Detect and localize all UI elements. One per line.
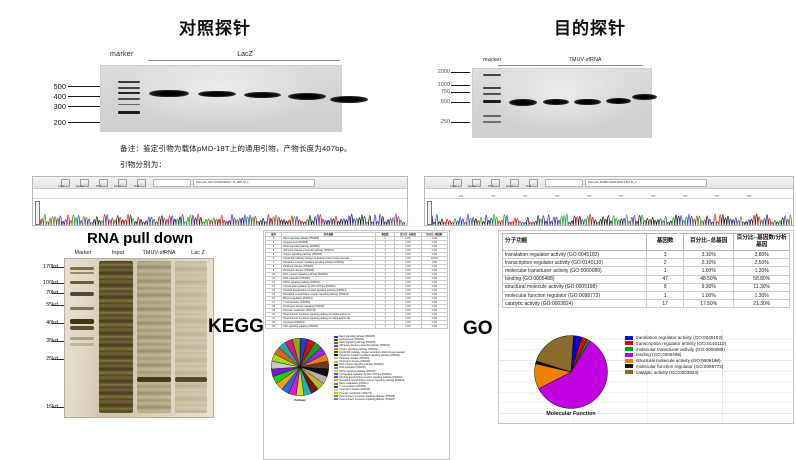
table-cell: molecular transducer activity (GO:006008…	[503, 267, 647, 275]
trace-peak	[787, 220, 790, 225]
trace-peak	[740, 216, 743, 225]
trace-peak	[493, 214, 496, 225]
trace-peak	[469, 219, 472, 225]
chromatogram-left-ruler: 100150200250300350400450500550	[33, 189, 407, 199]
trace-peak	[111, 218, 114, 225]
trace-peak	[527, 218, 530, 225]
trace-peak	[270, 218, 273, 225]
trace-peak	[257, 221, 260, 225]
ladder-band	[483, 121, 501, 123]
trace-peak	[701, 220, 704, 225]
protein-mw-line	[52, 341, 64, 342]
go-legend: translation regulator activity (GO:00451…	[625, 335, 793, 376]
table-cell: 9.30%	[684, 283, 734, 291]
trace-peak	[776, 222, 779, 225]
chromatogram-left[interactable]: Open Export Print Reset Find Sample: 201…	[32, 176, 408, 226]
trace-peak	[438, 222, 441, 225]
legend-label: catalytic activity (GO:0003824)	[636, 370, 699, 375]
trace-peak	[480, 217, 483, 225]
trace-peak	[244, 215, 247, 225]
legend-swatch-icon	[625, 353, 633, 357]
trace-peak	[382, 217, 385, 225]
trace-peak	[161, 216, 164, 225]
trace-peak	[392, 218, 395, 225]
dna-gel-right-mw-label: 1000	[426, 82, 450, 88]
protein-sample-smear	[137, 261, 171, 413]
legend-swatch-icon	[334, 373, 338, 375]
legend-swatch-icon	[625, 370, 633, 374]
trace-peak	[179, 217, 182, 225]
trace-peak	[618, 220, 621, 225]
legend-swatch-icon	[334, 348, 338, 350]
trace-peak	[735, 218, 738, 225]
table-cell: 21.30%	[734, 300, 790, 308]
trace-peak	[729, 219, 732, 225]
trace-peak	[215, 219, 218, 225]
table-cell: 23	[266, 325, 282, 329]
ladder-band	[483, 87, 501, 89]
trace-peak	[267, 215, 270, 225]
trace-peak	[605, 219, 608, 225]
legend-swatch-icon	[334, 398, 338, 400]
svg-text:100: 100	[459, 194, 464, 198]
trace-peak	[285, 221, 288, 225]
caption-line-2: 引物分别为：	[120, 159, 520, 170]
trace-peak	[202, 222, 205, 225]
chromatogram-left-trace-svg	[33, 199, 407, 226]
protein-marker-band	[70, 272, 94, 274]
protein-marker-band	[70, 281, 94, 284]
trace-peak	[641, 215, 644, 225]
legend-swatch-icon	[334, 342, 338, 344]
trace-peak	[633, 216, 636, 225]
svg-text:250: 250	[555, 194, 560, 198]
trace-peak	[148, 217, 151, 225]
trace-peak	[625, 215, 628, 225]
gel-band	[330, 96, 368, 103]
trace-peak	[228, 221, 231, 225]
legend-item: binding (GO:0005488)	[625, 352, 793, 357]
trace-peak	[761, 220, 764, 225]
trace-peak	[272, 217, 275, 225]
kegg-pie-chart	[270, 337, 330, 397]
dna-gel-right-image	[472, 68, 652, 138]
protein-mw-line	[52, 283, 64, 284]
chromatogram-left-toolbar[interactable]: Open Export Print Reset Find Sample: 201…	[33, 177, 407, 189]
trace-peak	[576, 217, 579, 225]
trace-peak	[584, 219, 587, 225]
trace-peak	[122, 220, 125, 225]
gel-band	[288, 93, 326, 100]
trace-peak	[59, 216, 62, 225]
trace-peak	[662, 220, 665, 225]
trace-peak	[57, 218, 60, 225]
trace-peak	[727, 216, 730, 225]
legend-swatch-icon	[334, 386, 338, 388]
ladder-band	[118, 81, 140, 83]
trace-peak	[586, 216, 589, 225]
protein-gel-lane-label: TMUV-sfRNA	[138, 250, 180, 256]
trace-peak	[750, 219, 753, 225]
legend-swatch-icon	[625, 359, 633, 363]
dna-gel-right-mw-label: 500	[426, 99, 450, 105]
table-row: translation regulator activity (GO:00451…	[503, 250, 790, 258]
table-cell: transcription regulator activity (GO:014…	[503, 259, 647, 267]
legend-swatch-icon	[334, 383, 338, 385]
trace-peak	[638, 215, 641, 225]
trace-peak	[49, 218, 52, 225]
legend-label: translation regulator activity (GO:00451…	[636, 335, 723, 340]
protein-band	[175, 377, 207, 382]
trace-peak	[205, 219, 208, 225]
trace-peak	[220, 215, 223, 225]
trace-peak	[755, 214, 758, 225]
dna-gel-right-mw-line	[451, 92, 470, 93]
dna-gel-left-mw-label: 500	[42, 82, 66, 91]
trace-peak	[314, 217, 317, 225]
trace-peak	[542, 216, 545, 225]
svg-text:500: 500	[715, 194, 720, 198]
reset-button-label[interactable]: Reset	[506, 185, 513, 188]
go-col-pct-analyzed: 百分比--基因数/分析基因	[734, 234, 790, 251]
table-row: catalytic activity (GO:0003824)1717.50%2…	[503, 300, 790, 308]
go-col-pct-total: 百分比--总基因	[684, 234, 734, 251]
trace-peak	[155, 222, 158, 225]
go-col-genecount: 基因数	[647, 234, 684, 251]
dna-gel-left-mw-line	[68, 86, 100, 87]
go-table-body: translation regulator activity (GO:00451…	[503, 250, 790, 307]
open-button-label[interactable]: Open	[58, 185, 64, 188]
trace-peak	[171, 216, 174, 225]
trace-peak	[236, 220, 239, 225]
trace-peak	[353, 219, 356, 225]
trace-peak	[379, 214, 382, 225]
trace-peak	[436, 214, 439, 225]
protein-gel-title: RNA pull down	[87, 230, 193, 247]
trace-peak	[672, 218, 675, 225]
svg-text:350: 350	[619, 194, 624, 198]
legend-swatch-icon	[334, 389, 338, 391]
caption-line-1: 备注：鉴定引物为载体pMD-18T上的通用引物，产物长度为407bp。	[120, 143, 520, 154]
trace-peak	[532, 222, 535, 225]
trace-peak	[330, 218, 333, 225]
legend-swatch-icon	[334, 364, 338, 366]
legend-item: catalytic activity (GO:0003824)	[625, 370, 793, 375]
trace-peak	[259, 221, 262, 225]
trace-peak	[501, 220, 504, 225]
trace-peak	[319, 215, 322, 225]
trace-peak	[291, 216, 294, 225]
dna-gel-left-lane-underline	[148, 60, 340, 61]
trace-peak	[610, 221, 613, 225]
table-cell: 48.50%	[684, 275, 734, 283]
trace-peak	[537, 216, 540, 225]
legend-item: transcription regulator activity (GO:014…	[625, 341, 793, 346]
trace-peak	[550, 222, 553, 225]
trace-peak	[654, 220, 657, 225]
legend-swatch-icon	[334, 336, 338, 338]
legend-swatch-icon	[334, 392, 338, 394]
svg-text:150: 150	[491, 194, 496, 198]
trace-peak	[192, 215, 195, 225]
trace-peak	[753, 215, 756, 225]
trace-peak	[597, 222, 600, 225]
trace-peak	[774, 220, 777, 225]
open-button-label[interactable]: Open	[450, 185, 456, 188]
legend-swatch-icon	[625, 341, 633, 345]
trace-peak	[223, 220, 226, 225]
dna-gel-left-mw-label: 400	[42, 92, 66, 101]
trace-peak	[363, 216, 366, 225]
trace-peak	[688, 214, 691, 225]
svg-text:400: 400	[651, 194, 656, 198]
trace-peak	[119, 217, 122, 225]
dna-gel-right-mw-label: 750	[426, 89, 450, 95]
trace-peak	[129, 215, 132, 225]
legend-swatch-icon	[334, 357, 338, 359]
trace-peak	[101, 221, 104, 225]
trace-peak	[158, 217, 161, 225]
table-cell: 17.50%	[684, 300, 734, 308]
trace-peak	[446, 219, 449, 225]
trace-peak	[207, 219, 210, 225]
trace-peak	[72, 215, 75, 225]
trace-peak	[51, 217, 54, 225]
trace-peak	[462, 219, 465, 225]
protein-marker-band	[70, 326, 94, 330]
trace-peak	[288, 220, 291, 225]
table-cell: 58.80%	[734, 275, 790, 283]
table-cell: 2.10%	[684, 259, 734, 267]
trace-peak	[210, 220, 213, 225]
trace-peak	[176, 219, 179, 225]
go-pie-svg	[533, 334, 609, 410]
table-cell: 1.30%	[734, 267, 790, 275]
trace-peak	[449, 221, 452, 225]
trace-peak	[140, 219, 143, 225]
trace-peak	[83, 217, 86, 225]
print-button-label[interactable]: Print	[96, 185, 101, 188]
trace-peak	[150, 217, 153, 225]
trace-peak	[685, 217, 688, 225]
trace-peak	[475, 219, 478, 225]
trace-peak	[132, 218, 135, 225]
trace-peak	[106, 215, 109, 225]
table-cell: 47	[647, 275, 684, 283]
table-cell: binding (GO:0005488)	[503, 275, 647, 283]
dna-gel-right-mw-line	[451, 122, 470, 123]
trace-peak	[90, 222, 93, 225]
trace-peak	[337, 222, 340, 225]
trace-peak	[675, 215, 678, 225]
dna-gel-left-mw-line	[68, 96, 100, 97]
trace-peak	[649, 219, 652, 225]
protein-gel-panel: RNA pull down Marker Input TMUV-sfRNA La…	[42, 228, 257, 460]
trace-peak	[683, 220, 686, 225]
trace-peak	[485, 215, 488, 225]
trace-peak	[703, 220, 706, 225]
svg-text:450: 450	[683, 194, 688, 198]
dna-gel-right-marker-label: marker	[483, 57, 502, 63]
trace-peak	[298, 220, 301, 225]
trace-peak	[181, 214, 184, 225]
trace-peak	[80, 221, 83, 225]
trace-peak	[197, 214, 200, 225]
gel-band	[632, 94, 657, 100]
dna-gel-right-mw-line	[451, 72, 470, 73]
trace-peak	[200, 218, 203, 225]
trace-peak	[64, 220, 67, 225]
legend-label: transcription regulator activity (GO:014…	[636, 341, 726, 346]
trace-peak	[722, 215, 725, 225]
gel-band	[244, 92, 281, 98]
trace-peak	[732, 220, 735, 225]
trace-peak	[594, 220, 597, 225]
dna-gel-left-lane-group-label: LacZ	[155, 51, 335, 58]
kegg-sheet: 编号 信号通路 基因数 百分比--总基因 百分比--基因数 1Rap1 sign…	[263, 230, 450, 460]
trace-peak	[213, 218, 216, 225]
chromatogram-right[interactable]: Open Export Print Reset Find Sample: M18…	[424, 176, 794, 226]
chromatogram-right-scale-handle[interactable]	[427, 201, 432, 225]
trace-peak	[508, 222, 511, 225]
trace-peak	[560, 216, 563, 225]
chromatogram-left-scale-handle[interactable]	[35, 201, 40, 225]
trace-peak	[581, 220, 584, 225]
print-button-label[interactable]: Print	[488, 185, 493, 188]
chromatogram-right-trace-svg	[425, 199, 793, 226]
dna-gel-left-mw-label: 300	[42, 102, 66, 111]
export-button-label[interactable]: Export	[76, 185, 84, 188]
trace-peak	[335, 216, 338, 225]
table-row: molecular transducer activity (GO:006008…	[503, 267, 790, 275]
kegg-table: 编号 信号通路 基因数 百分比--总基因 百分比--基因数 1Rap1 sign…	[265, 232, 448, 329]
table-cell: molecular function regulator (GO:0098772…	[503, 291, 647, 299]
trace-peak	[62, 221, 65, 225]
trace-peak	[226, 221, 229, 225]
trace-peak	[571, 221, 574, 225]
dna-gel-right-title: 目的探针	[520, 14, 660, 39]
legend-swatch-icon	[334, 395, 338, 397]
protein-mw-line	[52, 323, 64, 324]
trace-peak	[693, 219, 696, 225]
trace-peak	[714, 214, 717, 225]
trace-peak	[748, 220, 751, 225]
kegg-section-label: KEGG	[208, 316, 264, 338]
gel-band	[543, 99, 569, 105]
legend-label: molecular transducer activity (GO:006008…	[636, 347, 725, 352]
svg-text:200: 200	[523, 194, 528, 198]
trace-peak	[70, 220, 73, 225]
protein-mw-line	[52, 305, 64, 306]
trace-peak	[304, 222, 307, 225]
trace-peak	[511, 222, 514, 225]
trace-peak	[46, 222, 49, 225]
go-pie-caption: Molecular Function	[533, 411, 609, 417]
table-row: 23FGF signaling pathway (P00021)11.0%1.0…	[266, 325, 448, 329]
table-cell: 1.00%	[684, 291, 734, 299]
trace-peak	[454, 219, 457, 225]
trace-peak	[280, 220, 283, 225]
trace-peak	[137, 217, 140, 225]
table-cell: FGF signaling pathway (P00021)	[282, 325, 376, 329]
trace-peak	[114, 220, 117, 225]
trace-peak	[254, 216, 257, 225]
legend-label: molecular function regulator (GO:0098772…	[636, 364, 723, 369]
trace-peak	[309, 216, 312, 225]
trace-peak	[768, 219, 771, 225]
trace-peak	[88, 219, 91, 225]
trace-peak	[628, 221, 631, 225]
trace-peak	[54, 217, 57, 225]
trace-peak	[553, 217, 556, 225]
trace-peak	[369, 216, 372, 225]
trace-peak	[763, 218, 766, 225]
protein-band	[137, 377, 171, 382]
reset-button-label[interactable]: Reset	[114, 185, 121, 188]
trace-peak	[356, 218, 359, 225]
trace-peak	[317, 214, 320, 225]
protein-gel-lane-label: Input	[104, 250, 132, 256]
table-cell: 1.30%	[734, 291, 790, 299]
trace-peak	[789, 215, 792, 225]
find-button-label[interactable]: Find	[526, 185, 531, 188]
trace-peak	[719, 215, 722, 225]
trace-peak	[233, 218, 236, 225]
table-cell: 11.30%	[734, 283, 790, 291]
trace-peak	[361, 215, 364, 225]
legend-swatch-icon	[334, 345, 338, 347]
find-button-label[interactable]: Find	[134, 185, 139, 188]
legend-item: molecular function regulator (GO:0098772…	[625, 364, 793, 369]
table-cell: 3.10%	[684, 250, 734, 258]
trace-peak	[724, 218, 727, 225]
trace-peak	[657, 220, 660, 225]
trace-peak	[41, 218, 44, 225]
table-cell: 1.0%	[395, 325, 421, 329]
chromatogram-right-sample-label: Sample: M18B-sfsfRNA56-18M-M_L	[588, 180, 637, 184]
trace-peak	[737, 221, 740, 225]
trace-peak	[563, 215, 566, 225]
chromatogram-right-toolbar[interactable]: Open Export Print Reset Find Sample: M18…	[425, 177, 793, 189]
trace-peak	[459, 218, 462, 225]
table-cell: 3	[647, 250, 684, 258]
ladder-band	[118, 92, 140, 94]
trace-peak	[387, 220, 390, 225]
trace-peak	[490, 218, 493, 225]
trace-peak	[96, 217, 99, 225]
legend-swatch-icon	[334, 339, 338, 341]
legend-swatch-icon	[334, 351, 338, 353]
chromatogram-right-slider[interactable]	[545, 179, 583, 187]
trace-peak	[573, 216, 576, 225]
ladder-band	[483, 74, 501, 76]
trace-peak	[168, 216, 171, 225]
legend-label: structural molecule activity (GO:0005198…	[636, 358, 721, 363]
trace-peak	[278, 217, 281, 225]
trace-peak	[85, 217, 88, 225]
export-button-label[interactable]: Export	[468, 185, 476, 188]
legend-swatch-icon	[625, 336, 633, 340]
trace-peak	[519, 221, 522, 225]
trace-peak	[758, 217, 761, 225]
protein-marker-band	[70, 267, 94, 270]
trace-peak	[241, 218, 244, 225]
trace-peak	[441, 219, 444, 225]
trace-peak	[283, 220, 286, 225]
trace-peak	[252, 217, 255, 225]
trace-peak	[677, 216, 680, 225]
chromatogram-left-slider[interactable]	[153, 179, 191, 187]
